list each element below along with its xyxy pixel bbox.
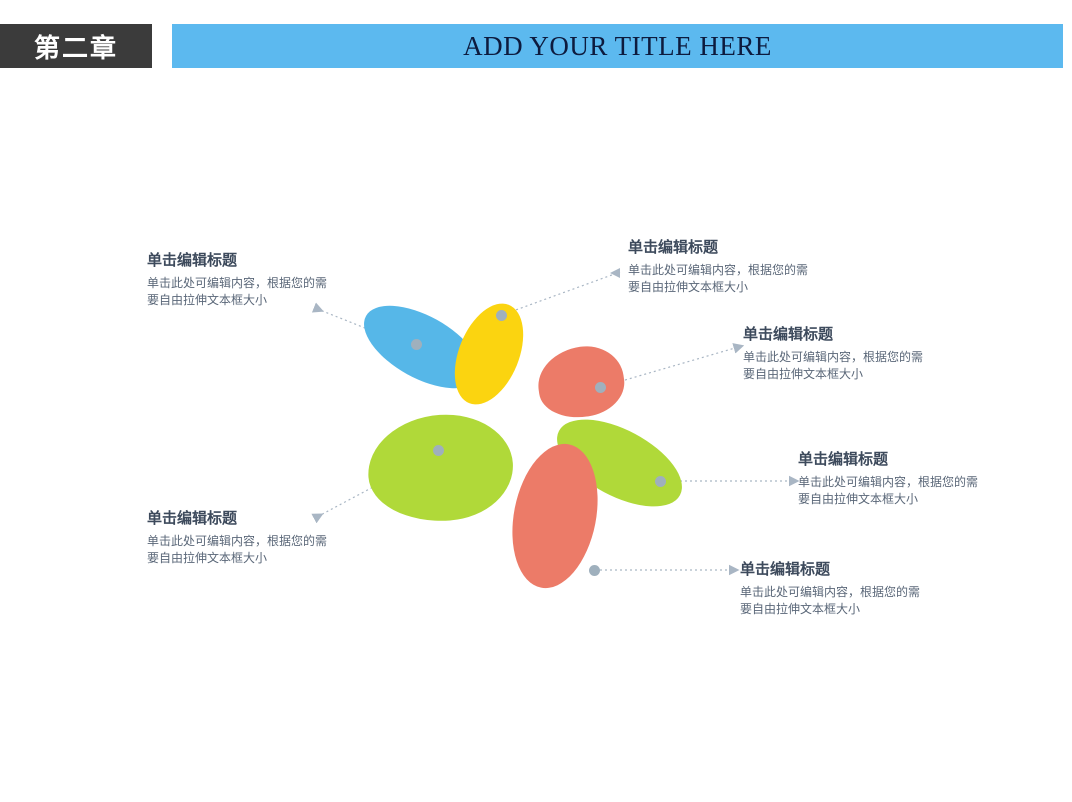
callout-body-line2: 要自由拉伸文本框大小 bbox=[147, 550, 327, 567]
node-dot-green-right[interactable] bbox=[655, 476, 666, 487]
connector-mid-right bbox=[601, 348, 735, 387]
callout-body-line1: 单击此处可编辑内容，根据您的需 bbox=[628, 262, 808, 279]
node-dot-green-left[interactable] bbox=[433, 445, 444, 456]
connector-top-right bbox=[502, 268, 620, 315]
callout-title: 单击编辑标题 bbox=[147, 251, 327, 271]
callout-body-line2: 要自由拉伸文本框大小 bbox=[740, 601, 920, 618]
callout-bottom-right[interactable]: 单击编辑标题 单击此处可编辑内容，根据您的需 要自由拉伸文本框大小 bbox=[740, 560, 920, 618]
petal-coral-bottom[interactable] bbox=[501, 437, 609, 596]
callout-title: 单击编辑标题 bbox=[147, 509, 327, 529]
petal-green-right[interactable] bbox=[544, 402, 696, 525]
petal-yellow[interactable] bbox=[441, 294, 536, 415]
callout-bottom-left[interactable]: 单击编辑标题 单击此处可编辑内容，根据您的需 要自由拉伸文本框大小 bbox=[147, 509, 327, 567]
petal-diagram bbox=[0, 0, 1072, 802]
callout-body-line2: 要自由拉伸文本框大小 bbox=[147, 292, 327, 309]
callout-title: 单击编辑标题 bbox=[740, 560, 920, 580]
petal-green-left[interactable] bbox=[364, 410, 516, 526]
node-dot-coral-bottom[interactable] bbox=[589, 565, 600, 576]
callout-body-line1: 单击此处可编辑内容，根据您的需 bbox=[147, 275, 327, 292]
page-title: ADD YOUR TITLE HERE bbox=[463, 31, 772, 62]
title-bar[interactable]: ADD YOUR TITLE HERE bbox=[172, 24, 1063, 68]
chapter-tag-label: 第二章 bbox=[34, 28, 118, 65]
callout-body-line2: 要自由拉伸文本框大小 bbox=[743, 366, 923, 383]
slide-header: 第二章 ADD YOUR TITLE HERE bbox=[0, 0, 1072, 90]
callout-mid-right[interactable]: 单击编辑标题 单击此处可编辑内容，根据您的需 要自由拉伸文本框大小 bbox=[743, 325, 923, 383]
callout-top-left[interactable]: 单击编辑标题 单击此处可编辑内容，根据您的需 要自由拉伸文本框大小 bbox=[147, 251, 327, 309]
connector-layer bbox=[0, 0, 1072, 802]
callout-body-line1: 单击此处可编辑内容，根据您的需 bbox=[743, 349, 923, 366]
callout-body-line1: 单击此处可编辑内容，根据您的需 bbox=[740, 584, 920, 601]
node-dot-yellow[interactable] bbox=[496, 310, 507, 321]
callout-body-line2: 要自由拉伸文本框大小 bbox=[628, 279, 808, 296]
petal-coral-right[interactable] bbox=[534, 341, 629, 422]
callout-title: 单击编辑标题 bbox=[743, 325, 923, 345]
callout-title: 单击编辑标题 bbox=[628, 238, 808, 258]
connector-top-left bbox=[315, 308, 417, 344]
petal-blue[interactable] bbox=[351, 289, 493, 405]
callout-body-line1: 单击此处可编辑内容，根据您的需 bbox=[147, 533, 327, 550]
callout-body-line1: 单击此处可编辑内容，根据您的需 bbox=[798, 474, 978, 491]
chapter-tag[interactable]: 第二章 bbox=[0, 24, 152, 68]
connector-bottom-left bbox=[315, 450, 438, 518]
callout-lower-right[interactable]: 单击编辑标题 单击此处可编辑内容，根据您的需 要自由拉伸文本框大小 bbox=[798, 450, 978, 508]
callout-top-right[interactable]: 单击编辑标题 单击此处可编辑内容，根据您的需 要自由拉伸文本框大小 bbox=[628, 238, 808, 296]
callout-title: 单击编辑标题 bbox=[798, 450, 978, 470]
callout-body-line2: 要自由拉伸文本框大小 bbox=[798, 491, 978, 508]
node-dot-blue[interactable] bbox=[411, 339, 422, 350]
node-dot-coral-right[interactable] bbox=[595, 382, 606, 393]
